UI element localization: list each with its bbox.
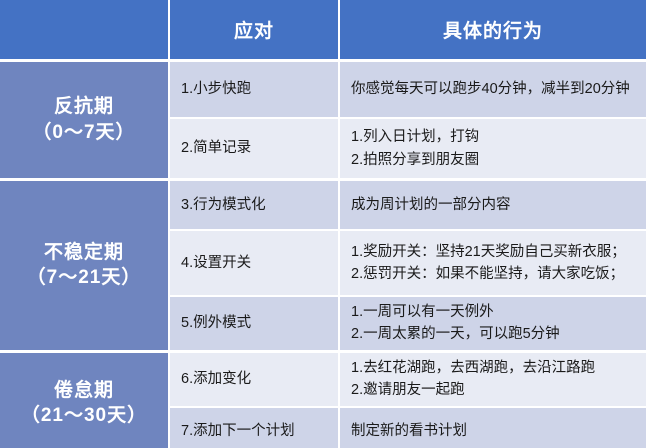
action-line: 1.一周可以有一天例外 <box>351 301 636 323</box>
action-cell-2-1: 制定新的看书计划 <box>338 406 646 448</box>
phase-cell-1: 不稳定期 （7～21天） <box>0 178 168 350</box>
action-line: 2.拍照分享到朋友圈 <box>351 149 636 171</box>
habit-formation-table: 应对 具体的行为 反抗期 （0～7天） 1.小步快跑 你感觉每天可以跑步40分钟… <box>0 0 646 448</box>
table-header-row: 应对 具体的行为 <box>0 0 646 59</box>
phase-range-2: （21～30天） <box>0 403 168 429</box>
table-row: 反抗期 （0～7天） 1.小步快跑 你感觉每天可以跑步40分钟，减半到20分钟 <box>0 59 646 117</box>
action-line: 1.奖励开关：坚持21天奖励自己买新衣服； <box>351 241 636 263</box>
phase-name-2: 倦怠期 <box>54 380 114 401</box>
action-line: 成为周计划的一部分内容 <box>351 194 636 216</box>
phase-name-0: 反抗期 <box>54 96 114 117</box>
action-cell-1-1: 1.奖励开关：坚持21天奖励自己买新衣服； 2.惩罚开关：如果不能坚持，请大家吃… <box>338 229 646 295</box>
phase-range-0: （0～7天） <box>0 120 168 146</box>
action-cell-0-1: 1.列入日计划，打钩 2.拍照分享到朋友圈 <box>338 117 646 178</box>
action-cell-0-0: 你感觉每天可以跑步40分钟，减半到20分钟 <box>338 59 646 117</box>
method-cell-1-0: 3.行为模式化 <box>168 178 338 229</box>
method-cell-0-1: 2.简单记录 <box>168 117 338 178</box>
action-line: 1.去红花湖跑，去西湖跑，去沿江路跑 <box>351 357 636 379</box>
header-cell-action: 具体的行为 <box>338 0 646 59</box>
action-line: 2.惩罚开关：如果不能坚持，请大家吃饭； <box>351 263 636 285</box>
method-cell-1-2: 5.例外模式 <box>168 295 338 350</box>
action-line: 制定新的看书计划 <box>351 420 636 442</box>
table-row: 不稳定期 （7～21天） 3.行为模式化 成为周计划的一部分内容 <box>0 178 646 229</box>
action-cell-1-2: 1.一周可以有一天例外 2.一周太累的一天，可以跑5分钟 <box>338 295 646 350</box>
action-cell-1-0: 成为周计划的一部分内容 <box>338 178 646 229</box>
table-row: 倦怠期 （21～30天） 6.添加变化 1.去红花湖跑，去西湖跑，去沿江路跑 2… <box>0 350 646 406</box>
method-cell-2-1: 7.添加下一个计划 <box>168 406 338 448</box>
phase-cell-0: 反抗期 （0～7天） <box>0 59 168 178</box>
action-line: 2.邀请朋友一起跑 <box>351 379 636 401</box>
action-line: 2.一周太累的一天，可以跑5分钟 <box>351 323 636 345</box>
phase-name-1: 不稳定期 <box>44 242 124 263</box>
header-cell-method: 应对 <box>168 0 338 59</box>
action-cell-2-0: 1.去红花湖跑，去西湖跑，去沿江路跑 2.邀请朋友一起跑 <box>338 350 646 406</box>
phase-range-1: （7～21天） <box>0 265 168 291</box>
phase-cell-2: 倦怠期 （21～30天） <box>0 350 168 448</box>
method-cell-1-1: 4.设置开关 <box>168 229 338 295</box>
action-line: 你感觉每天可以跑步40分钟，减半到20分钟 <box>351 78 636 100</box>
method-cell-0-0: 1.小步快跑 <box>168 59 338 117</box>
action-line: 1.列入日计划，打钩 <box>351 126 636 148</box>
header-cell-phase <box>0 0 168 59</box>
method-cell-2-0: 6.添加变化 <box>168 350 338 406</box>
